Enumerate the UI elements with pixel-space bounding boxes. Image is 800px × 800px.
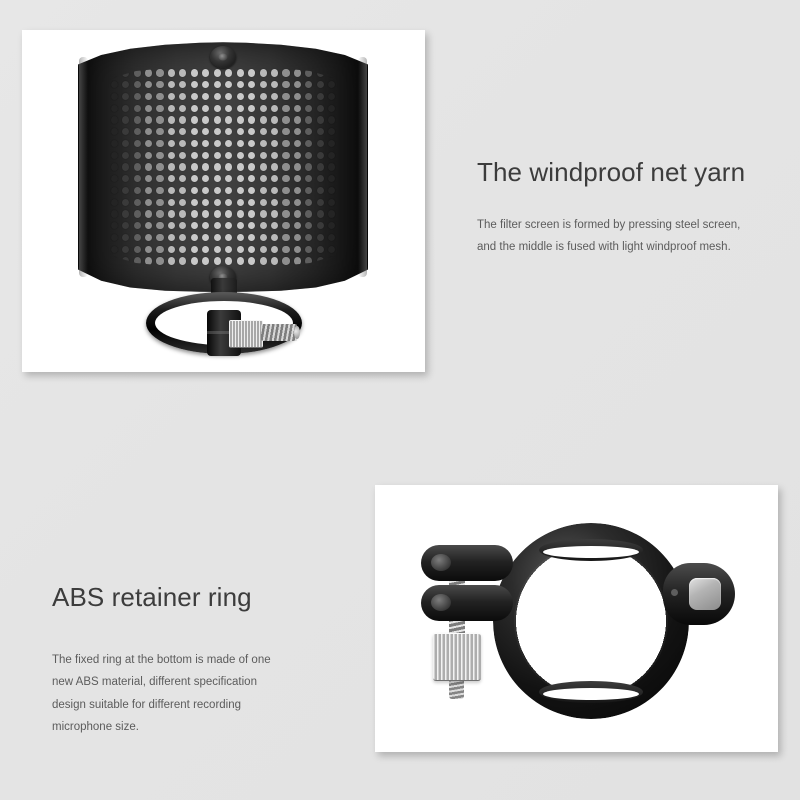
perforation-hole bbox=[168, 175, 175, 182]
perforation-hole bbox=[271, 105, 278, 112]
perforation-hole bbox=[179, 105, 186, 112]
perforation-hole bbox=[271, 163, 278, 170]
perforation-hole bbox=[294, 69, 301, 76]
clamp-ear-upper bbox=[421, 545, 513, 581]
perforation-hole bbox=[328, 93, 335, 100]
perforation-hole bbox=[179, 199, 186, 206]
perforation-hole bbox=[237, 128, 244, 135]
perforation-hole bbox=[260, 246, 267, 253]
perforation-hole bbox=[179, 128, 186, 135]
perforation-hole bbox=[260, 234, 267, 241]
perforation-hole bbox=[122, 246, 129, 253]
thumbscrew-knurled-head bbox=[229, 320, 263, 348]
perforation-hole bbox=[214, 81, 221, 88]
perforation-hole bbox=[317, 152, 324, 159]
perforation-hole bbox=[260, 175, 267, 182]
perforation-hole bbox=[214, 199, 221, 206]
perforation-hole bbox=[328, 163, 335, 170]
perforation-hole bbox=[134, 116, 141, 123]
perforation-hole bbox=[191, 128, 198, 135]
perforation-hole bbox=[294, 187, 301, 194]
perforation-hole bbox=[225, 246, 232, 253]
perforation-hole bbox=[294, 257, 301, 264]
perforation-hole bbox=[134, 152, 141, 159]
perforation-hole bbox=[111, 187, 118, 194]
perforation-hole bbox=[328, 140, 335, 147]
perforation-hole bbox=[168, 257, 175, 264]
perforation-hole bbox=[111, 199, 118, 206]
perforation-hole bbox=[156, 140, 163, 147]
perforation-hole bbox=[294, 222, 301, 229]
perforation-hole bbox=[179, 81, 186, 88]
perforation-hole bbox=[317, 128, 324, 135]
perforation-hole bbox=[179, 69, 186, 76]
perforation-hole bbox=[317, 246, 324, 253]
perforation-hole bbox=[225, 128, 232, 135]
perforation-hole bbox=[134, 81, 141, 88]
perforation-hole bbox=[168, 187, 175, 194]
perforation-hole bbox=[179, 257, 186, 264]
perforation-hole bbox=[168, 69, 175, 76]
perforation-hole bbox=[317, 234, 324, 241]
perforation-hole bbox=[294, 163, 301, 170]
perforation-hole bbox=[145, 69, 152, 76]
perforation-hole bbox=[134, 128, 141, 135]
perforation-hole bbox=[260, 222, 267, 229]
perforation-hole bbox=[317, 163, 324, 170]
perforation-hole bbox=[191, 210, 198, 217]
perforation-hole bbox=[237, 81, 244, 88]
perforation-hole bbox=[145, 128, 152, 135]
perforation-hole bbox=[260, 81, 267, 88]
perforation-hole bbox=[317, 140, 324, 147]
mounting-ring-edge-on bbox=[146, 292, 302, 354]
perforation-hole bbox=[282, 257, 289, 264]
perforation-hole bbox=[214, 257, 221, 264]
perforation-hole bbox=[111, 175, 118, 182]
perforation-hole bbox=[225, 152, 232, 159]
perforation-hole bbox=[248, 257, 255, 264]
perforation-hole bbox=[248, 152, 255, 159]
perforation-hole bbox=[145, 152, 152, 159]
perforation-hole bbox=[282, 246, 289, 253]
perforation-hole bbox=[214, 175, 221, 182]
perforation-hole bbox=[305, 93, 312, 100]
screen-left-edge bbox=[79, 57, 88, 277]
perforation-hole bbox=[134, 93, 141, 100]
perforation-hole bbox=[248, 222, 255, 229]
perforation-hole bbox=[156, 81, 163, 88]
perforation-hole bbox=[305, 81, 312, 88]
perforation-hole bbox=[202, 163, 209, 170]
product-photo-retainer-ring bbox=[375, 485, 778, 752]
perforation-hole bbox=[328, 116, 335, 123]
perforation-hole bbox=[271, 210, 278, 217]
perforation-hole bbox=[305, 187, 312, 194]
perforation-hole bbox=[179, 234, 186, 241]
perforation-hole bbox=[248, 128, 255, 135]
perforation-hole bbox=[122, 210, 129, 217]
perforation-hole bbox=[134, 210, 141, 217]
perforation-hole bbox=[122, 105, 129, 112]
perforation-hole bbox=[305, 105, 312, 112]
perforation-hole bbox=[202, 257, 209, 264]
perforation-hole bbox=[294, 116, 301, 123]
windproof-body-line-1: The filter screen is formed by pressing … bbox=[477, 214, 777, 236]
perforation-hole bbox=[179, 163, 186, 170]
perforation-hole bbox=[317, 105, 324, 112]
perforation-hole bbox=[248, 116, 255, 123]
perforation-hole bbox=[260, 257, 267, 264]
perforation-hole bbox=[225, 81, 232, 88]
perforation-hole bbox=[271, 93, 278, 100]
perforation-hole bbox=[191, 140, 198, 147]
perforation-hole bbox=[282, 69, 289, 76]
perforation-hole bbox=[145, 246, 152, 253]
perforation-hole bbox=[202, 175, 209, 182]
perforation-hole bbox=[145, 234, 152, 241]
perforation-hole bbox=[122, 81, 129, 88]
retainer-body-line-1: The fixed ring at the bottom is made of … bbox=[52, 649, 342, 671]
perforation-hole bbox=[260, 210, 267, 217]
perforation-hole bbox=[191, 152, 198, 159]
perforation-hole bbox=[156, 199, 163, 206]
perforation-hole bbox=[317, 210, 324, 217]
perforation-hole bbox=[202, 152, 209, 159]
perforation-hole bbox=[156, 105, 163, 112]
perforation-hole bbox=[134, 199, 141, 206]
perforation-hole bbox=[225, 93, 232, 100]
perforation-hole bbox=[271, 199, 278, 206]
perforation-hole bbox=[214, 222, 221, 229]
retainer-body-line-3: design suitable for different recording bbox=[52, 694, 342, 716]
perforation-hole bbox=[122, 187, 129, 194]
perforation-hole bbox=[168, 163, 175, 170]
perforation-hole bbox=[179, 93, 186, 100]
perforation-hole bbox=[156, 175, 163, 182]
section-windproof-text: The windproof net yarn The filter screen… bbox=[477, 158, 777, 259]
perforation-hole bbox=[305, 116, 312, 123]
perforation-hole bbox=[317, 81, 324, 88]
mounting-lug bbox=[663, 563, 735, 625]
perforation-hole bbox=[122, 163, 129, 170]
perforation-hole bbox=[122, 93, 129, 100]
perforation-hole bbox=[179, 246, 186, 253]
perforation-hole bbox=[145, 93, 152, 100]
perforation-hole bbox=[248, 81, 255, 88]
perforation-hole bbox=[260, 163, 267, 170]
perforation-hole bbox=[156, 128, 163, 135]
ring-rib-top bbox=[539, 539, 643, 561]
perforation-hole bbox=[294, 140, 301, 147]
perforation-hole bbox=[248, 246, 255, 253]
perforation-hole bbox=[237, 93, 244, 100]
perforation-hole bbox=[328, 234, 335, 241]
perforation-hole bbox=[202, 128, 209, 135]
perforation-hole bbox=[134, 105, 141, 112]
perforation-hole bbox=[271, 175, 278, 182]
perforation-hole bbox=[225, 105, 232, 112]
perforation-hole bbox=[305, 234, 312, 241]
perforation-hole bbox=[145, 257, 152, 264]
perforation-hole bbox=[214, 128, 221, 135]
retainer-body: The fixed ring at the bottom is made of … bbox=[52, 649, 342, 739]
perforation-hole bbox=[294, 128, 301, 135]
perforation-hole bbox=[134, 222, 141, 229]
perforation-hole bbox=[168, 152, 175, 159]
perforation-hole bbox=[248, 210, 255, 217]
perforation-hole bbox=[282, 128, 289, 135]
perforation-hole bbox=[214, 152, 221, 159]
perforation-hole bbox=[145, 163, 152, 170]
perforation-hole bbox=[260, 199, 267, 206]
perforation-hole bbox=[145, 105, 152, 112]
perforation-hole bbox=[168, 140, 175, 147]
perforation-hole bbox=[202, 199, 209, 206]
perforation-hole bbox=[282, 234, 289, 241]
retainer-heading: ABS retainer ring bbox=[52, 583, 342, 613]
perforation-hole bbox=[214, 116, 221, 123]
perforation-hole bbox=[156, 246, 163, 253]
perforation-hole bbox=[317, 175, 324, 182]
perforation-hole bbox=[317, 93, 324, 100]
perforation-hole bbox=[111, 105, 118, 112]
perforation-hole bbox=[191, 187, 198, 194]
perforation-hole bbox=[168, 116, 175, 123]
perforation-hole bbox=[156, 187, 163, 194]
perforation-grid bbox=[108, 67, 337, 267]
perforation-hole bbox=[317, 116, 324, 123]
perforation-hole bbox=[282, 222, 289, 229]
perforation-hole bbox=[328, 81, 335, 88]
perforation-hole bbox=[111, 128, 118, 135]
perforation-hole bbox=[282, 81, 289, 88]
perforation-hole bbox=[260, 69, 267, 76]
perforation-hole bbox=[202, 140, 209, 147]
perforation-hole bbox=[134, 140, 141, 147]
infographic-page: The windproof net yarn The filter screen… bbox=[0, 0, 800, 800]
perforation-hole bbox=[111, 81, 118, 88]
retainer-body-line-2: new ABS material, different specificatio… bbox=[52, 671, 342, 693]
perforation-hole bbox=[168, 199, 175, 206]
perforation-hole bbox=[225, 175, 232, 182]
perforation-hole bbox=[145, 187, 152, 194]
perforation-hole bbox=[179, 152, 186, 159]
perforation-hole bbox=[237, 152, 244, 159]
perforation-hole bbox=[168, 234, 175, 241]
perforation-hole bbox=[237, 199, 244, 206]
perforation-hole bbox=[122, 128, 129, 135]
perforation-hole bbox=[191, 199, 198, 206]
perforation-hole bbox=[122, 140, 129, 147]
perforation-hole bbox=[179, 116, 186, 123]
perforation-hole bbox=[260, 140, 267, 147]
lug-metal-pin bbox=[689, 578, 721, 610]
screen-right-edge bbox=[358, 57, 367, 277]
perforation-hole bbox=[168, 105, 175, 112]
perforation-hole bbox=[271, 128, 278, 135]
perforation-hole bbox=[328, 222, 335, 229]
perforation-hole bbox=[271, 140, 278, 147]
perforation-hole bbox=[305, 152, 312, 159]
perforation-hole bbox=[134, 175, 141, 182]
perforation-hole bbox=[271, 234, 278, 241]
windproof-body-line-2: and the middle is fused with light windp… bbox=[477, 236, 777, 258]
perforation-hole bbox=[248, 175, 255, 182]
perforation-hole bbox=[214, 140, 221, 147]
ring-rib-bottom bbox=[539, 681, 643, 703]
perforation-hole bbox=[168, 128, 175, 135]
perforation-hole bbox=[271, 81, 278, 88]
perforation-hole bbox=[168, 222, 175, 229]
ring-inner-shadow bbox=[514, 544, 668, 698]
perforation-hole bbox=[225, 234, 232, 241]
perforation-hole bbox=[225, 116, 232, 123]
perforation-hole bbox=[305, 175, 312, 182]
perforation-hole bbox=[248, 199, 255, 206]
perforation-hole bbox=[134, 163, 141, 170]
perforation-hole bbox=[294, 199, 301, 206]
windproof-heading: The windproof net yarn bbox=[477, 158, 777, 188]
retainer-body-line-4: microphone size. bbox=[52, 716, 342, 738]
perforation-hole bbox=[271, 116, 278, 123]
perforation-hole bbox=[282, 140, 289, 147]
perforation-hole bbox=[237, 105, 244, 112]
perforation-hole bbox=[317, 222, 324, 229]
perforation-hole bbox=[145, 81, 152, 88]
perforation-hole bbox=[317, 187, 324, 194]
ring-illustration bbox=[375, 485, 778, 752]
perforation-hole bbox=[282, 210, 289, 217]
perforation-hole bbox=[328, 199, 335, 206]
perforation-hole bbox=[111, 152, 118, 159]
thumbscrew-thread bbox=[261, 324, 297, 341]
thumbscrew-knurled-knob bbox=[433, 633, 481, 681]
perforation-hole bbox=[214, 69, 221, 76]
perforation-hole bbox=[305, 163, 312, 170]
perforation-hole bbox=[271, 246, 278, 253]
perforation-hole bbox=[237, 140, 244, 147]
perforation-hole bbox=[111, 93, 118, 100]
perforation-hole bbox=[271, 152, 278, 159]
perforation-hole bbox=[248, 187, 255, 194]
windproof-body: The filter screen is formed by pressing … bbox=[477, 214, 777, 259]
perforation-hole bbox=[134, 246, 141, 253]
perforation-hole bbox=[271, 69, 278, 76]
perforation-hole bbox=[122, 175, 129, 182]
perforation-hole bbox=[328, 187, 335, 194]
perforation-hole bbox=[202, 234, 209, 241]
perforation-hole bbox=[191, 69, 198, 76]
perforation-hole bbox=[271, 257, 278, 264]
perforation-hole bbox=[305, 199, 312, 206]
perforation-hole bbox=[202, 105, 209, 112]
perforation-hole bbox=[237, 210, 244, 217]
perforation-hole bbox=[191, 163, 198, 170]
perforation-hole bbox=[294, 175, 301, 182]
perforation-hole bbox=[248, 140, 255, 147]
perforation-hole bbox=[156, 69, 163, 76]
perforation-hole bbox=[191, 81, 198, 88]
perforation-hole bbox=[225, 210, 232, 217]
perforation-hole bbox=[248, 234, 255, 241]
perforation-hole bbox=[225, 222, 232, 229]
perforation-hole bbox=[260, 105, 267, 112]
perforation-hole bbox=[202, 187, 209, 194]
perforation-hole bbox=[305, 210, 312, 217]
perforation-hole bbox=[111, 163, 118, 170]
clamp-ear-lower bbox=[421, 585, 513, 621]
perforation-hole bbox=[202, 69, 209, 76]
perforation-hole bbox=[282, 163, 289, 170]
perforation-hole bbox=[156, 93, 163, 100]
perforation-hole bbox=[282, 187, 289, 194]
perforation-hole bbox=[305, 222, 312, 229]
perforation-hole bbox=[179, 210, 186, 217]
perforation-hole bbox=[260, 116, 267, 123]
section-retainer-text: ABS retainer ring The fixed ring at the … bbox=[52, 583, 342, 739]
perforation-hole bbox=[328, 210, 335, 217]
perforation-hole bbox=[282, 175, 289, 182]
perforation-hole bbox=[156, 222, 163, 229]
perforation-hole bbox=[111, 116, 118, 123]
perforation-hole bbox=[214, 93, 221, 100]
product-photo-windproof-shield bbox=[22, 30, 425, 372]
perforation-hole bbox=[225, 199, 232, 206]
perforation-hole bbox=[282, 152, 289, 159]
perforation-hole bbox=[168, 93, 175, 100]
perforation-hole bbox=[202, 222, 209, 229]
perforation-hole bbox=[248, 163, 255, 170]
perforation-hole bbox=[179, 140, 186, 147]
perforation-hole bbox=[237, 246, 244, 253]
perforation-hole bbox=[179, 187, 186, 194]
perforation-hole bbox=[202, 116, 209, 123]
perforation-hole bbox=[294, 246, 301, 253]
perforation-hole bbox=[191, 105, 198, 112]
perforation-hole bbox=[202, 246, 209, 253]
perforation-hole bbox=[168, 210, 175, 217]
perforation-hole bbox=[122, 199, 129, 206]
lug-side-hole bbox=[671, 589, 678, 596]
perforation-hole bbox=[237, 234, 244, 241]
perforation-hole bbox=[237, 163, 244, 170]
perforation-hole bbox=[305, 246, 312, 253]
perforation-hole bbox=[156, 116, 163, 123]
perforation-hole bbox=[156, 257, 163, 264]
perforation-hole bbox=[248, 105, 255, 112]
perforation-hole bbox=[191, 175, 198, 182]
perforation-hole bbox=[237, 116, 244, 123]
perforation-hole bbox=[294, 210, 301, 217]
c-ring-body bbox=[493, 523, 689, 719]
perforation-hole bbox=[248, 69, 255, 76]
perforation-hole bbox=[225, 257, 232, 264]
perforation-hole bbox=[328, 128, 335, 135]
perforation-hole bbox=[225, 187, 232, 194]
perforation-hole bbox=[134, 234, 141, 241]
perforation-hole bbox=[237, 175, 244, 182]
perforation-hole bbox=[328, 152, 335, 159]
perforation-hole bbox=[294, 81, 301, 88]
perforation-hole bbox=[271, 222, 278, 229]
perforation-hole bbox=[282, 105, 289, 112]
perforation-hole bbox=[214, 210, 221, 217]
perforation-hole bbox=[191, 246, 198, 253]
perforation-hole bbox=[294, 93, 301, 100]
perforation-hole bbox=[191, 257, 198, 264]
perforation-hole bbox=[202, 93, 209, 100]
